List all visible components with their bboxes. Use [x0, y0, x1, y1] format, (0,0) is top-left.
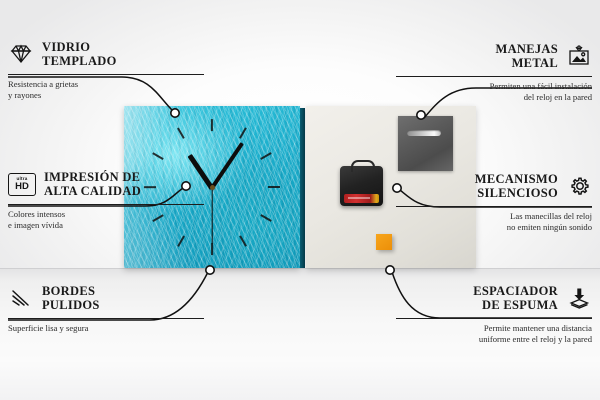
- feature-title: MANEJAS METAL: [495, 42, 558, 71]
- feature-bordes-pulidos: BORDES PULIDOS Superficie lisa y segura: [8, 284, 204, 334]
- feature-vidrio-templado: VIDRIO TEMPLADO Resistencia a grietas y …: [8, 40, 204, 101]
- feature-description: Resistencia a grietas y rayones: [8, 79, 204, 102]
- feature-mecanismo-silencioso: MECANISMO SILENCIOSO Las manecillas del …: [396, 172, 592, 233]
- polished-edges-icon: [8, 287, 34, 309]
- feature-description: Las manecillas del reloj no emiten ningú…: [396, 211, 592, 234]
- feature-description: Permiten una fácil instalación del reloj…: [396, 81, 592, 104]
- feature-description: Permite mantener una distancia uniforme …: [396, 323, 592, 346]
- battery: [344, 194, 379, 203]
- title-rule: [396, 76, 592, 77]
- feature-title: IMPRESIÓN DE ALTA CALIDAD: [44, 170, 141, 199]
- title-rule: [8, 74, 204, 75]
- metal-hanger-plate: [398, 116, 453, 171]
- clock-center-hub: [210, 185, 215, 190]
- title-rule: [396, 206, 592, 207]
- clock-tick: [211, 243, 213, 255]
- feature-impresion-alta-calidad: ultra HD IMPRESIÓN DE ALTA CALIDAD Color…: [8, 170, 204, 231]
- ultra-hd-icon: ultra HD: [8, 173, 36, 196]
- gear-icon: [566, 175, 592, 197]
- surface-horizon-line: [0, 268, 600, 269]
- feature-description: Colores intensos e imagen vívida: [8, 209, 204, 232]
- hanger-loop: [351, 160, 375, 172]
- feature-manejas-metal: MANEJAS METAL Permiten una fácil instala…: [396, 42, 592, 103]
- feature-title: ESPACIADOR DE ESPUMA: [473, 284, 558, 313]
- clock-side-edge: [300, 108, 305, 268]
- feature-description: Superficie lisa y segura: [8, 323, 204, 334]
- title-rule: [8, 204, 204, 205]
- diamond-icon: [8, 43, 34, 65]
- feature-title: MECANISMO SILENCIOSO: [475, 172, 558, 201]
- foam-spacer: [376, 234, 392, 250]
- clock-second-hand: [211, 188, 212, 244]
- arrow-down-layers-icon: [566, 287, 592, 309]
- title-rule: [8, 318, 204, 319]
- picture-frame-icon: [566, 45, 592, 67]
- feature-title: BORDES PULIDOS: [42, 284, 100, 313]
- feature-espaciador-espuma: ESPACIADOR DE ESPUMA Permite mantener un…: [396, 284, 592, 345]
- clock-tick: [211, 119, 213, 131]
- clock-tick: [268, 186, 280, 188]
- title-rule: [396, 318, 592, 319]
- feature-title: VIDRIO TEMPLADO: [42, 40, 117, 69]
- quartz-mechanism: [340, 166, 383, 206]
- infographic-stage: VIDRIO TEMPLADO Resistencia a grietas y …: [0, 0, 600, 400]
